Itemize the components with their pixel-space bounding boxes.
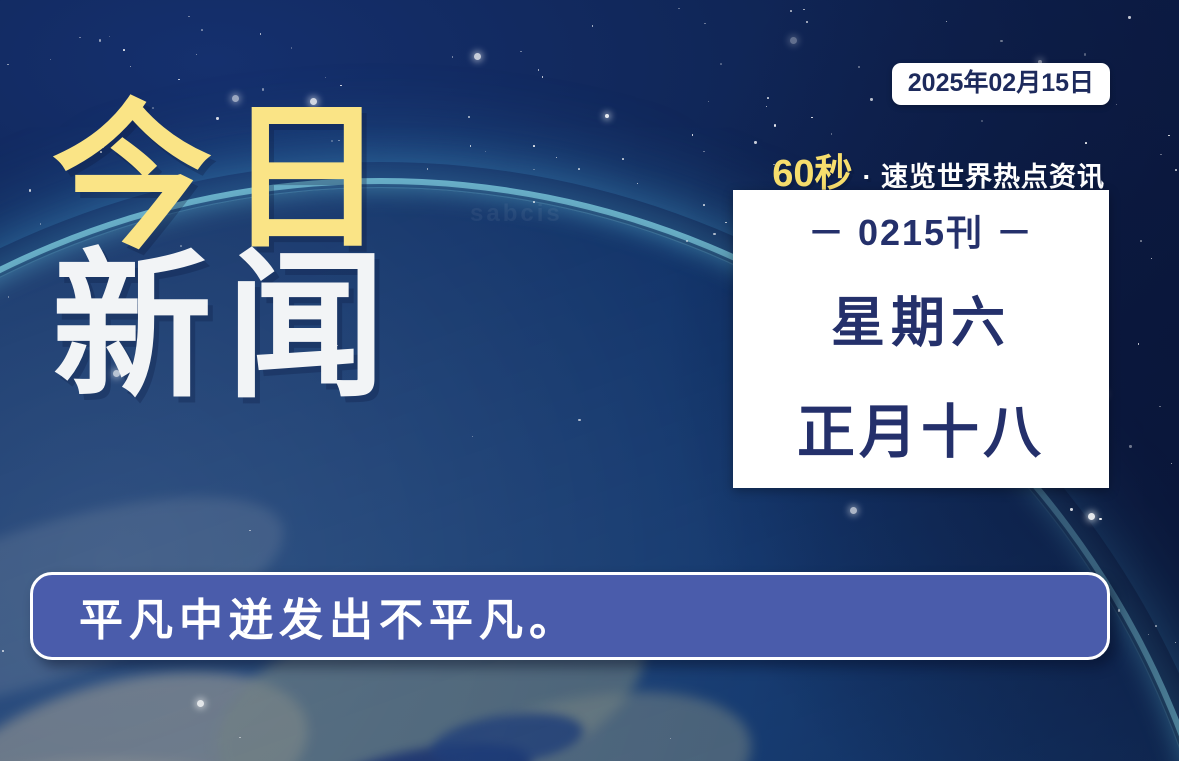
page-title: 今日 新闻 (52, 96, 400, 408)
issue-card: － 0215刊 － 星期六 正月十八 (733, 190, 1109, 488)
weekday-label: 星期六 (831, 278, 1011, 357)
news-poster: sabcis 今日 新闻 2025年02月15日 60秒 · 速览世界热点资讯 … (0, 0, 1179, 761)
slogan-text: 平凡中迸发出不平凡。 (79, 584, 579, 648)
tagline-text: · 速览世界热点资讯 (863, 155, 1106, 194)
date-badge: 2025年02月15日 (892, 63, 1110, 105)
tagline: 60秒 · 速览世界热点资讯 (772, 142, 1105, 197)
tagline-number: 60秒 (772, 142, 852, 197)
lunar-date-label: 正月十八 (797, 385, 1045, 469)
title-line-news: 新闻 (52, 245, 400, 408)
title-line-today: 今日 (52, 96, 400, 259)
slogan-bar: 平凡中迸发出不平凡。 (30, 572, 1110, 660)
issue-number: － 0215刊 － (808, 204, 1034, 256)
